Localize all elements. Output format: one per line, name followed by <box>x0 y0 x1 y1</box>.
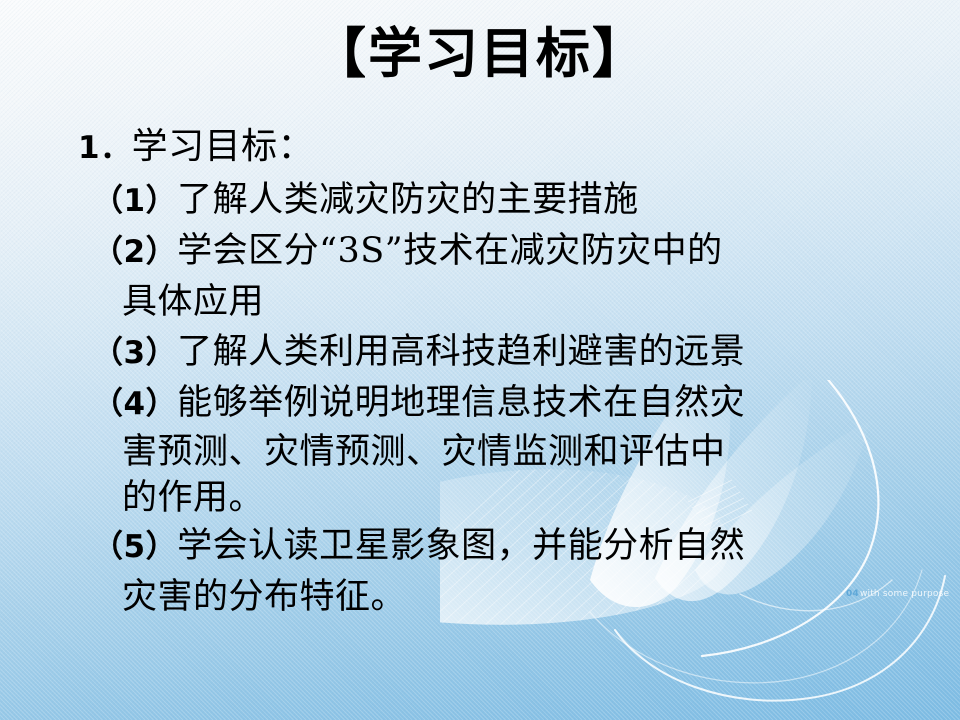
presentation-slide: 04with some purpose 【学习目标】 1．学习目标： （1）了解… <box>0 0 960 720</box>
list-item: （3）了解人类利用高科技趋利避害的远景 <box>92 327 928 378</box>
list-item-continuation: 灾害的分布特征。 <box>122 572 928 622</box>
list-item: （2）学会区分“3S”技术在减灾防灾中的 <box>92 226 928 277</box>
list-item-continuation: 害预测、灾情预测、灾情监测和评估中 <box>122 429 928 475</box>
item-text: 学会认读卫星影象图，并能分析自然 <box>177 526 745 566</box>
heading-label: 学习目标： <box>132 126 315 167</box>
item-marker: （5） <box>92 529 177 565</box>
item-text: 了解人类利用高科技趋利避害的远景 <box>177 332 745 372</box>
objectives-heading: 1．学习目标： <box>78 122 928 173</box>
item-marker: （1） <box>92 183 177 219</box>
item-text: 了解人类减灾防灾的主要措施 <box>177 180 639 220</box>
list-item: （1）了解人类减灾防灾的主要措施 <box>92 175 928 226</box>
item-marker: （2） <box>92 234 177 270</box>
heading-number: 1． <box>78 130 132 166</box>
item-text: 能够举例说明地理信息技术在自然灾 <box>177 383 745 423</box>
page-title: 【学习目标】 <box>0 24 960 83</box>
item-marker: （3） <box>92 335 177 371</box>
slide-body: 1．学习目标： （1）了解人类减灾防灾的主要措施 （2）学会区分“3S”技术在减… <box>78 122 928 622</box>
list-item-continuation: 的作用。 <box>122 475 928 521</box>
list-item: （4）能够举例说明地理信息技术在自然灾 <box>92 378 928 429</box>
list-item: （5）学会认读卫星影象图，并能分析自然 <box>92 521 928 572</box>
item-text: 学会区分“3S”技术在减灾防灾中的 <box>177 231 723 271</box>
item-marker: （4） <box>92 386 177 422</box>
list-item-continuation: 具体应用 <box>122 277 928 327</box>
